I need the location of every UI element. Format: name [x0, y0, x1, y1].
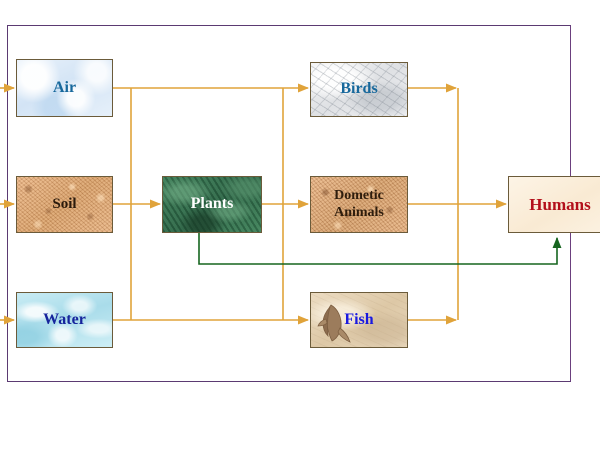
node-humans-label: Humans [529, 195, 590, 215]
node-domestic-animals-label-line1: Dometic [334, 188, 384, 203]
node-water[interactable]: Water [16, 292, 113, 348]
edge-plants-to-humans [199, 232, 557, 264]
node-plants[interactable]: Plants [162, 176, 262, 233]
node-domestic-animals-label-line2: Animals [334, 205, 384, 220]
node-domestic-animals-label: Dometic Animals [334, 188, 384, 220]
node-soil[interactable]: Soil [16, 176, 113, 233]
node-domestic-animals[interactable]: Dometic Animals [310, 176, 408, 233]
node-fish[interactable]: Fish [310, 292, 408, 348]
node-plants-label: Plants [191, 195, 234, 213]
node-humans[interactable]: Humans [508, 176, 600, 233]
node-air-label: Air [53, 79, 76, 97]
node-soil-label: Soil [52, 196, 76, 213]
node-air[interactable]: Air [16, 59, 113, 117]
node-birds-label: Birds [340, 80, 377, 98]
node-birds[interactable]: Birds [310, 62, 408, 117]
diagram-canvas: Air Soil Water Plants Birds Dometic Anim… [0, 0, 600, 459]
node-water-label: Water [43, 311, 86, 329]
node-fish-label: Fish [344, 311, 373, 329]
